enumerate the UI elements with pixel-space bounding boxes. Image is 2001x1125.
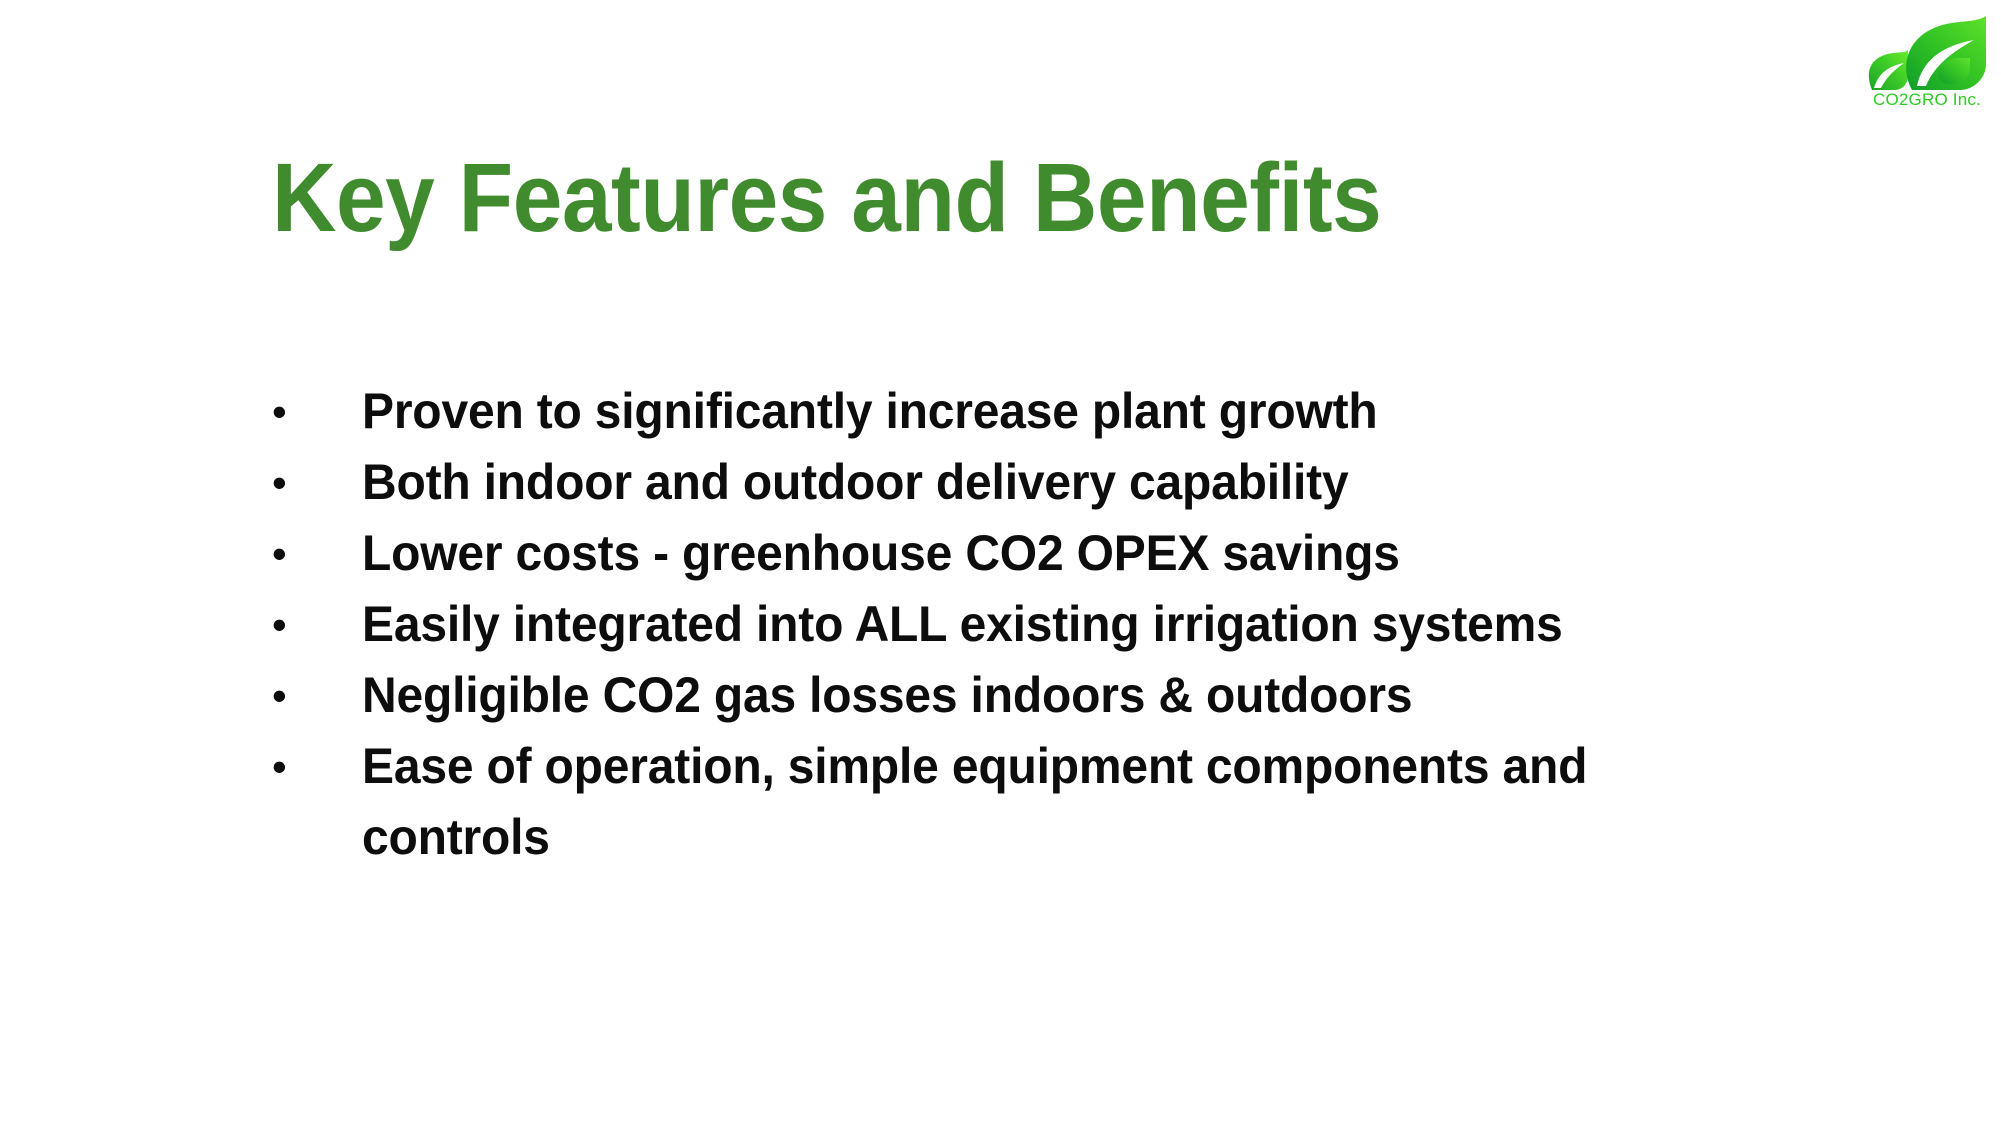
list-item-label: Easily integrated into ALL existing irri…: [362, 589, 1639, 660]
bullet-marker-icon: •: [272, 447, 362, 518]
list-item-label: Both indoor and outdoor delivery capabil…: [362, 447, 1639, 518]
list-item: • Negligible CO2 gas losses indoors & ou…: [272, 660, 1692, 731]
list-item: • Both indoor and outdoor delivery capab…: [272, 447, 1692, 518]
bullet-marker-icon: •: [272, 660, 362, 731]
logo-caption: CO2GRO Inc.: [1852, 90, 2001, 110]
page-title: Key Features and Benefits: [272, 147, 1381, 250]
list-item: • Lower costs - greenhouse CO2 OPEX savi…: [272, 518, 1692, 589]
list-item: • Proven to significantly increase plant…: [272, 376, 1692, 447]
list-item-label: Ease of operation, simple equipment comp…: [362, 731, 1639, 873]
list-item-label: Proven to significantly increase plant g…: [362, 376, 1639, 447]
bullet-marker-icon: •: [272, 731, 362, 802]
bullet-marker-icon: •: [272, 518, 362, 589]
logo: CO2GRO Inc.: [1852, 14, 2001, 118]
co2gro-leaf-logo-icon: [1860, 14, 2000, 92]
list-item-label: Lower costs - greenhouse CO2 OPEX saving…: [362, 518, 1639, 589]
key-features-list: • Proven to significantly increase plant…: [272, 376, 1692, 873]
list-item-label: Negligible CO2 gas losses indoors & outd…: [362, 660, 1639, 731]
list-item: • Ease of operation, simple equipment co…: [272, 731, 1692, 873]
slide-canvas: CO2GRO Inc. Key Features and Benefits • …: [0, 0, 2001, 1125]
bullet-marker-icon: •: [272, 376, 362, 447]
list-item: • Easily integrated into ALL existing ir…: [272, 589, 1692, 660]
bullet-marker-icon: •: [272, 589, 362, 660]
